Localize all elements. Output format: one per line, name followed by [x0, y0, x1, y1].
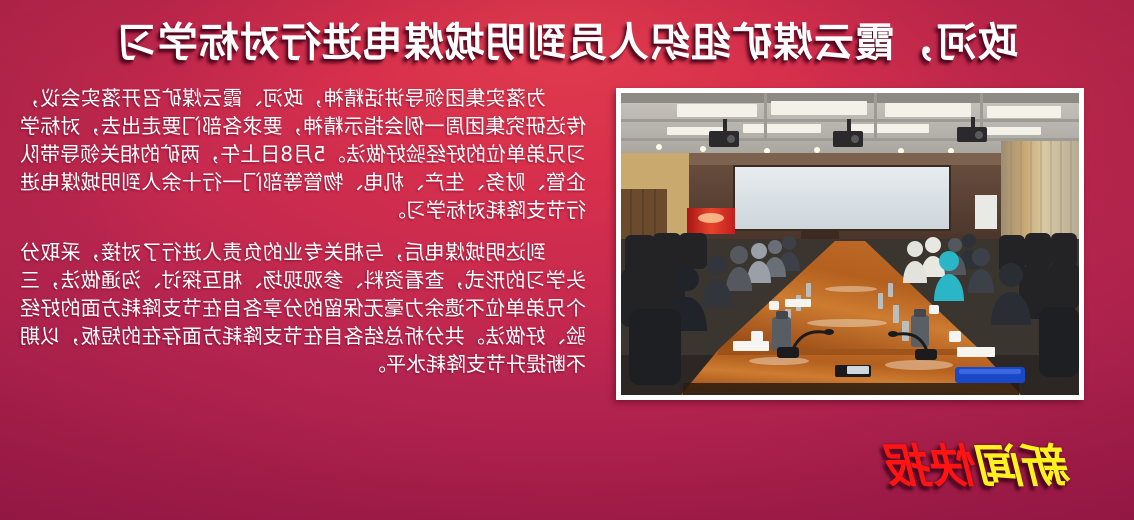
article-paragraph-1: 为落实集团领导讲话精神，政河、霞云煤矿召开落实会议，传达研究集团周一例会指示精神…	[20, 84, 586, 224]
article-paragraph-2: 到达明城煤电后，与相关专业的负责人进行了对接，采取分头学习的形式，查看资料、参观…	[20, 238, 586, 378]
conference-room-photo	[621, 93, 1079, 395]
logo-tail-text: 快报	[888, 439, 980, 493]
news-poster: 政河，霞云煤矿组织人员到明城煤电进行对标学习	[0, 0, 1134, 520]
page-title: 政河，霞云煤矿组织人员到明城煤电进行对标学习	[0, 10, 1134, 68]
photo-illustration	[621, 93, 1079, 395]
news-flash-logo: 新闻快报	[888, 430, 1072, 496]
photo-frame	[616, 88, 1084, 400]
logo-lead-text: 新闻	[980, 439, 1072, 493]
article-body: 为落实集团领导讲话精神，政河、霞云煤矿召开落实会议，传达研究集团周一例会指示精神…	[20, 84, 586, 378]
